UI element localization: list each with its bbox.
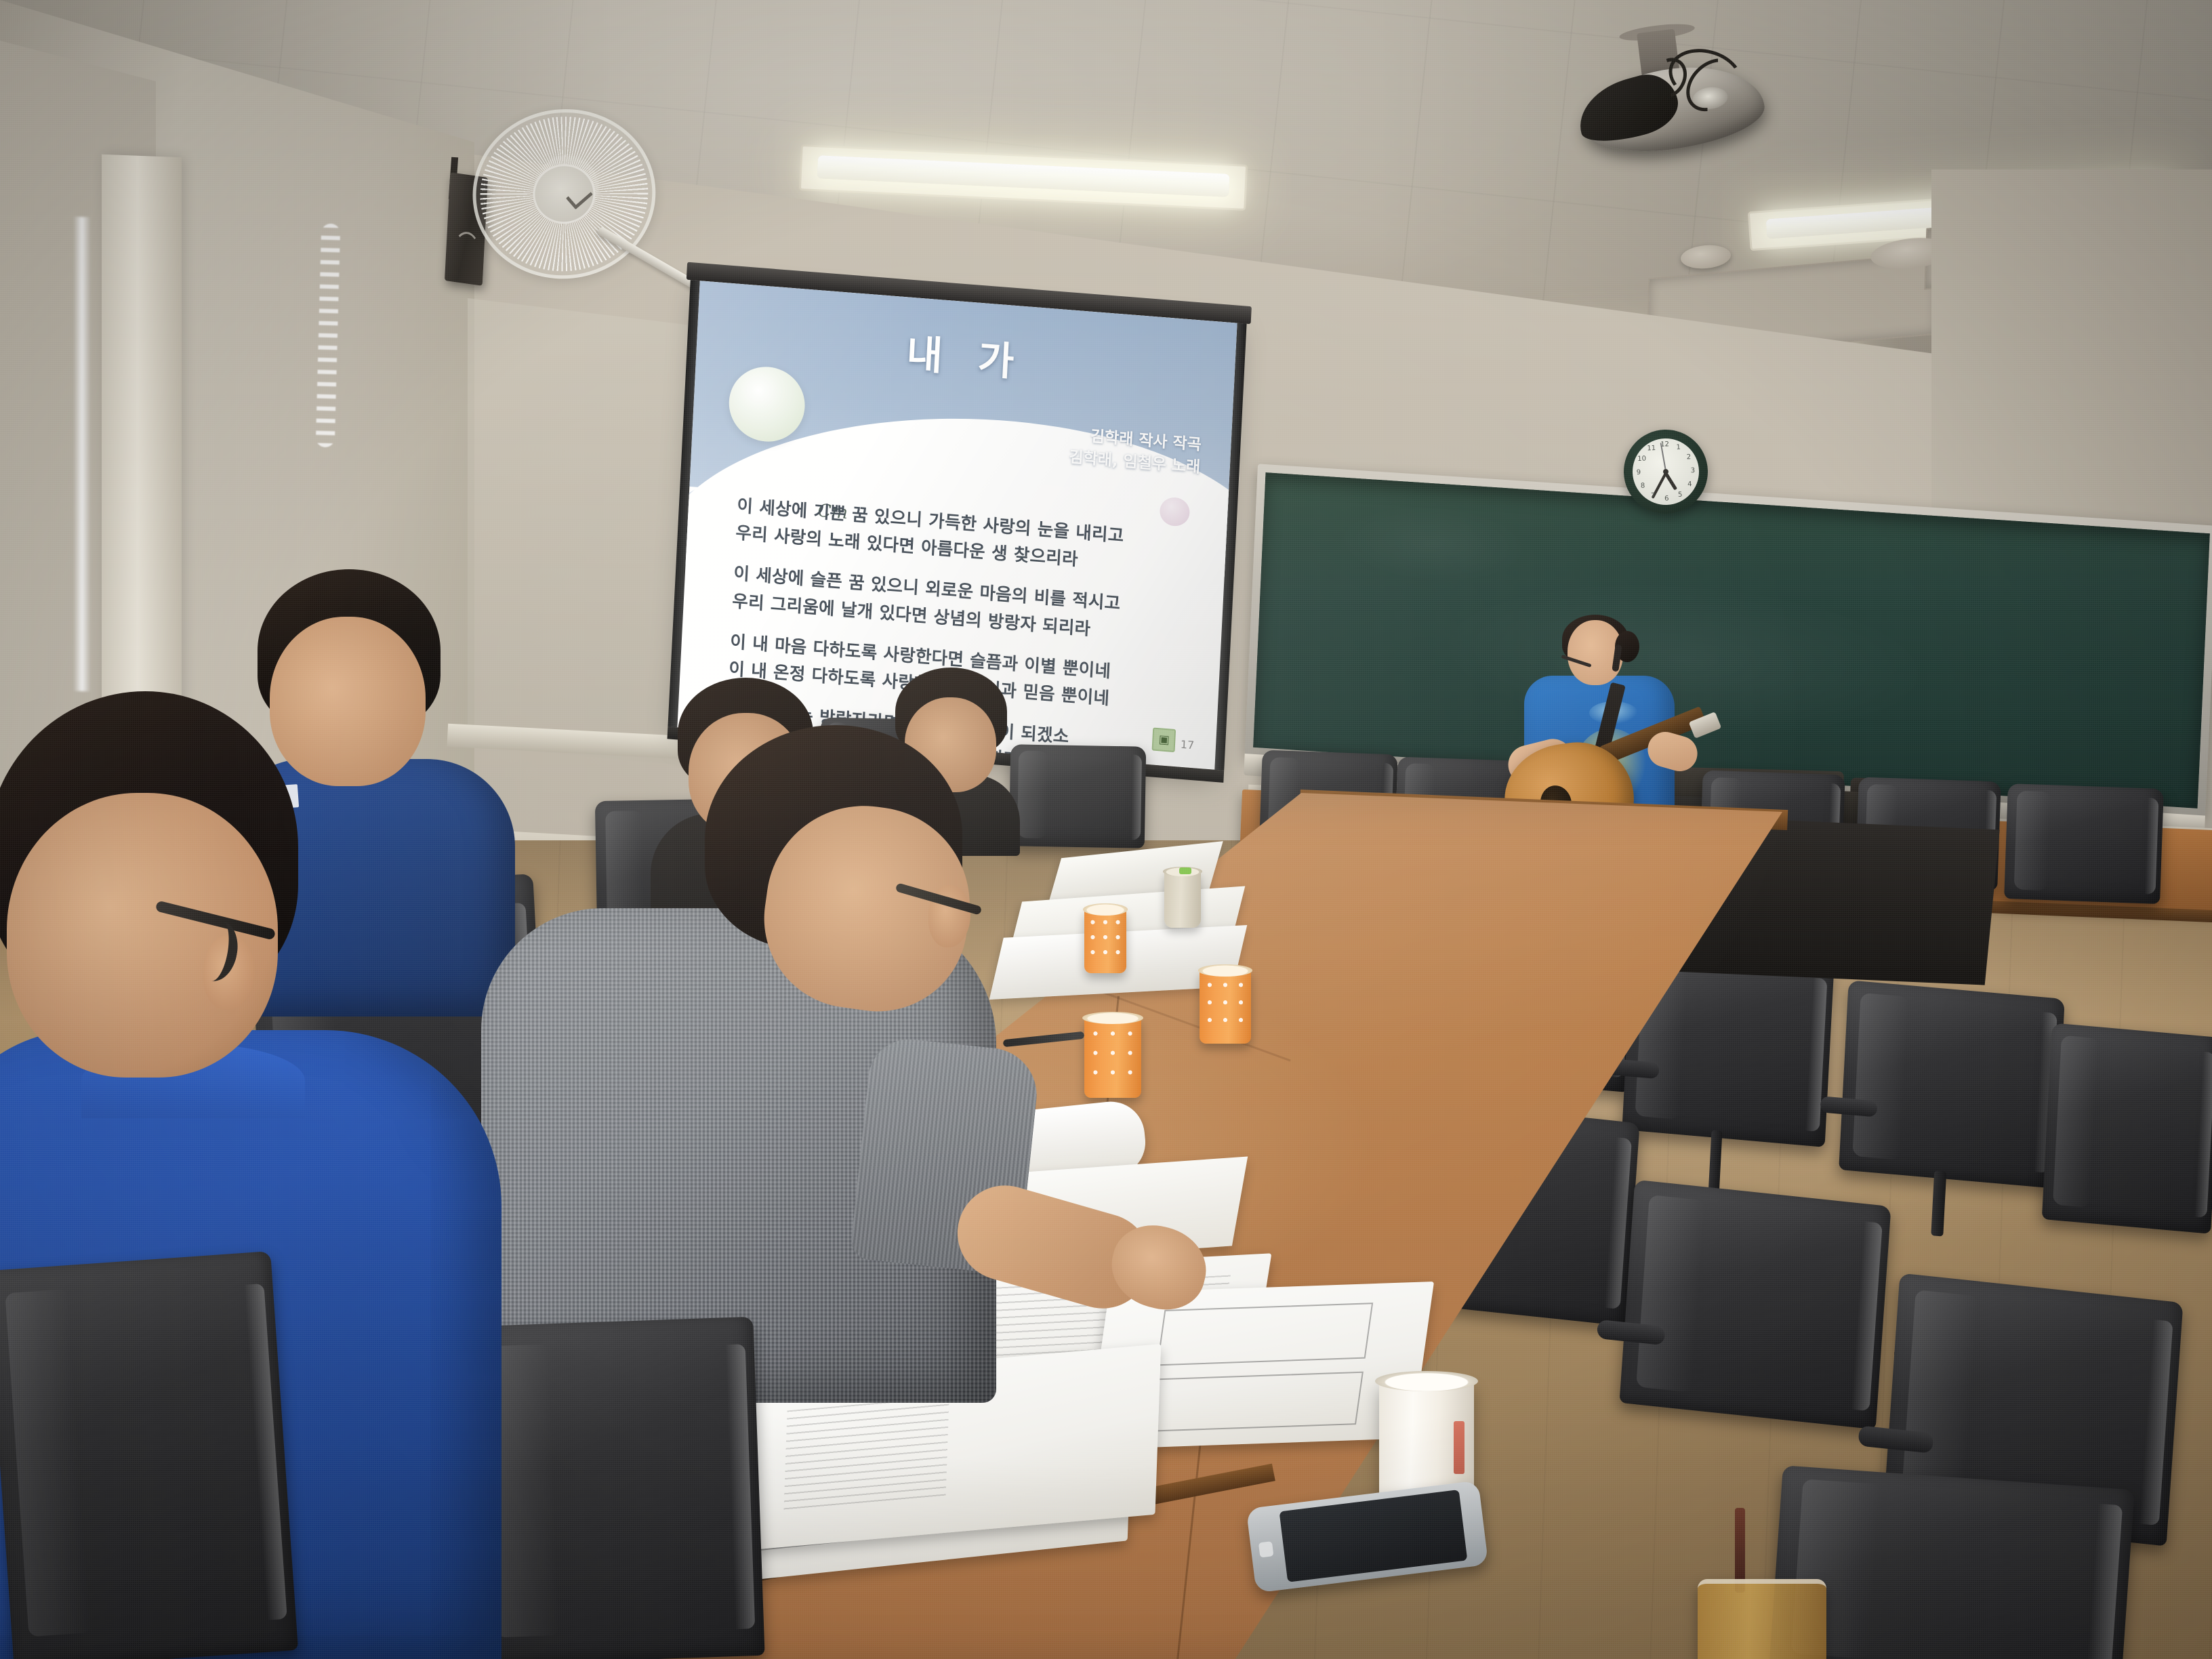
- clock-numeral: 11: [1647, 445, 1656, 452]
- clock-hour-hand: [1664, 472, 1677, 490]
- wall-fan-icon: [464, 99, 681, 322]
- seminar-room-photo: 내 가 김학래 작사 작곡 김학래, 임철우 노래 Cm 이 세상에 기쁜 꿈 …: [0, 0, 2212, 1659]
- paper-cup-orange: [1084, 908, 1126, 973]
- clock-numeral: 1: [1676, 444, 1681, 451]
- handout-box: [1157, 1303, 1373, 1366]
- pillar-highlight: [73, 217, 91, 692]
- attendee-gray-check-shirt: [508, 725, 1050, 1403]
- paper-cup-orange: [1084, 1017, 1141, 1098]
- clock-numeral: 6: [1664, 495, 1669, 502]
- paper-cup-beige: [1164, 871, 1201, 928]
- clock-numeral: 7: [1651, 492, 1656, 499]
- iced-drink-cup: [1698, 1579, 1826, 1659]
- paper-cup-orange: [1200, 969, 1251, 1044]
- attendee-head: [7, 793, 278, 1078]
- slide-page-number: 17: [1180, 738, 1194, 752]
- fan-cage: [464, 100, 664, 288]
- clock-numeral: 2: [1687, 453, 1692, 461]
- handout-box: [1147, 1372, 1363, 1432]
- clock-numeral: 5: [1678, 491, 1683, 498]
- office-chair: [2042, 1023, 2212, 1233]
- clock-numeral: 3: [1691, 467, 1696, 474]
- phone-screen[interactable]: [1279, 1490, 1468, 1582]
- clock-numeral: 8: [1641, 483, 1645, 490]
- clock-numeral: 12: [1660, 441, 1669, 448]
- phone-home-button-icon[interactable]: [1258, 1541, 1274, 1557]
- handout-text-lines: [783, 1397, 949, 1513]
- clock-numeral: 9: [1637, 469, 1641, 476]
- clock-numeral: 10: [1637, 455, 1646, 463]
- ceiling-projector: [1561, 18, 1780, 177]
- office-chair: [2004, 783, 2164, 904]
- clock-numeral: 4: [1687, 480, 1692, 488]
- office-chair: [0, 1251, 298, 1659]
- slide-corner-logo-icon: ▣: [1152, 727, 1176, 752]
- cup-lid-tab-icon: [1179, 867, 1191, 874]
- clock-face: 121234567891011: [1631, 437, 1700, 506]
